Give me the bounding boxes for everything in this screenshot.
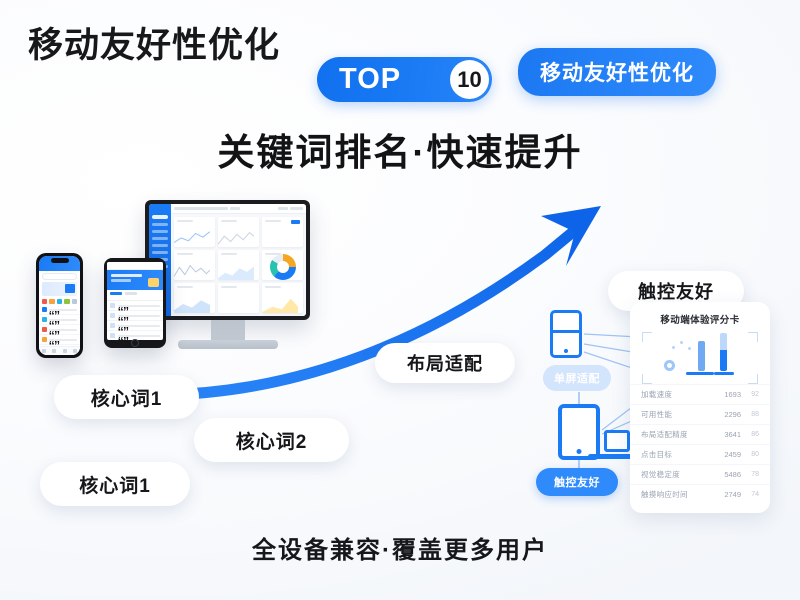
diagram-tablet-icon bbox=[558, 404, 600, 460]
widget-card bbox=[174, 217, 215, 247]
table-row: 触摸响应时间 2749 74 bbox=[630, 484, 770, 504]
row-name: 点击目标 bbox=[641, 449, 715, 460]
tablet-mockup bbox=[104, 258, 166, 348]
widget-card bbox=[262, 217, 303, 247]
diagram-pill-single-screen: 单屏适配 bbox=[543, 365, 611, 391]
tablet-home-button bbox=[131, 339, 139, 347]
table-row: 视觉稳定度 5486 78 bbox=[630, 464, 770, 484]
row-value: 1693 bbox=[715, 390, 741, 399]
tablet-banner bbox=[107, 270, 163, 290]
keyword-pill: 核心词1 bbox=[40, 462, 190, 506]
phone-appbar bbox=[39, 256, 80, 271]
row-name: 加载速度 bbox=[641, 389, 715, 400]
desktop-monitor-mockup bbox=[145, 200, 310, 320]
phone-search-bar bbox=[42, 273, 77, 280]
monitor-bezel bbox=[145, 200, 310, 320]
row-name: 触摸响应时间 bbox=[641, 489, 715, 500]
widget-card bbox=[262, 283, 303, 313]
device-connection-diagram: 单屏适配 触控友好 移动端体验评分卡 加载速度 1693 92 bbox=[528, 300, 788, 515]
dashboard-topbar bbox=[171, 204, 306, 214]
table-row: 加载速度 1693 92 bbox=[630, 384, 770, 404]
scorecard-row-list: 加载速度 1693 92 可用性能 2296 88 布局适配精度 3641 86… bbox=[630, 384, 770, 504]
phone-promo-card bbox=[42, 282, 77, 296]
row-value: 5486 bbox=[715, 470, 741, 479]
row-score: 92 bbox=[741, 391, 759, 398]
table-row: 布局适配精度 3641 86 bbox=[630, 424, 770, 444]
top-rank-badge: TOP 10 bbox=[317, 57, 492, 102]
table-row: 可用性能 2296 88 bbox=[630, 404, 770, 424]
phone-mockup bbox=[36, 253, 83, 358]
row-score: 80 bbox=[741, 451, 759, 458]
dashboard-body bbox=[171, 204, 306, 316]
phone-screen bbox=[39, 256, 80, 355]
row-value: 2749 bbox=[715, 490, 741, 499]
widget-card bbox=[218, 217, 259, 247]
diagram-laptop-icon bbox=[600, 430, 634, 460]
widget-card bbox=[218, 283, 259, 313]
mobile-experience-scorecard: 移动端体验评分卡 加载速度 1693 92 可用性能 bbox=[630, 302, 770, 513]
table-row: 点击目标 2459 80 bbox=[630, 444, 770, 464]
diagram-phone-icon bbox=[550, 310, 582, 358]
footer-tagline: 全设备兼容·覆盖更多用户 bbox=[0, 530, 800, 565]
row-score: 86 bbox=[741, 431, 759, 438]
row-value: 2296 bbox=[715, 410, 741, 419]
monitor-screen bbox=[149, 204, 306, 316]
list-item bbox=[107, 311, 163, 321]
page-title: 移动友好性优化 bbox=[28, 28, 280, 63]
tablet-tabbar bbox=[107, 290, 163, 301]
top-badge-number: 10 bbox=[450, 60, 489, 99]
scorecard-title: 移动端体验评分卡 bbox=[630, 312, 770, 326]
phone-tabbar bbox=[39, 346, 80, 355]
monitor-stand-base bbox=[178, 340, 278, 349]
diagram-pill-touch-friendly: 触控友好 bbox=[536, 468, 618, 496]
phone-notch bbox=[51, 258, 69, 263]
row-name: 布局适配精度 bbox=[641, 429, 715, 440]
widget-card bbox=[218, 250, 259, 280]
tablet-screen bbox=[107, 262, 163, 340]
list-item bbox=[107, 321, 163, 331]
widget-card bbox=[174, 250, 215, 280]
donut-chart-widget bbox=[262, 250, 303, 280]
tablet-statusbar bbox=[107, 262, 163, 270]
top-badge-word: TOP bbox=[339, 65, 401, 94]
row-value: 3641 bbox=[715, 430, 741, 439]
phone-icon-row bbox=[39, 298, 80, 305]
row-value: 2459 bbox=[715, 450, 741, 459]
poster-canvas: 移动友好性优化 TOP 10 移动友好性优化 关键词排名·快速提升 bbox=[0, 0, 800, 600]
list-item bbox=[39, 305, 80, 315]
row-score: 88 bbox=[741, 411, 759, 418]
scorecard-pin-icon bbox=[664, 360, 675, 371]
row-name: 可用性能 bbox=[641, 409, 715, 420]
row-name: 视觉稳定度 bbox=[641, 469, 715, 480]
keyword-pill: 核心词2 bbox=[194, 418, 349, 462]
callout-layout-adaptation: 布局适配 bbox=[375, 343, 515, 383]
keyword-pill: 核心词1 bbox=[54, 375, 199, 419]
row-score: 74 bbox=[741, 491, 759, 498]
widget-card bbox=[174, 283, 215, 313]
list-item bbox=[107, 301, 163, 311]
row-score: 78 bbox=[741, 471, 759, 478]
monitor-stand-neck bbox=[211, 320, 245, 342]
donut-chart-icon bbox=[270, 254, 296, 280]
header-tag-pill: 移动友好性优化 bbox=[518, 48, 716, 96]
scorecard-illustration bbox=[642, 332, 758, 384]
dashboard-widget-grid bbox=[171, 214, 306, 316]
